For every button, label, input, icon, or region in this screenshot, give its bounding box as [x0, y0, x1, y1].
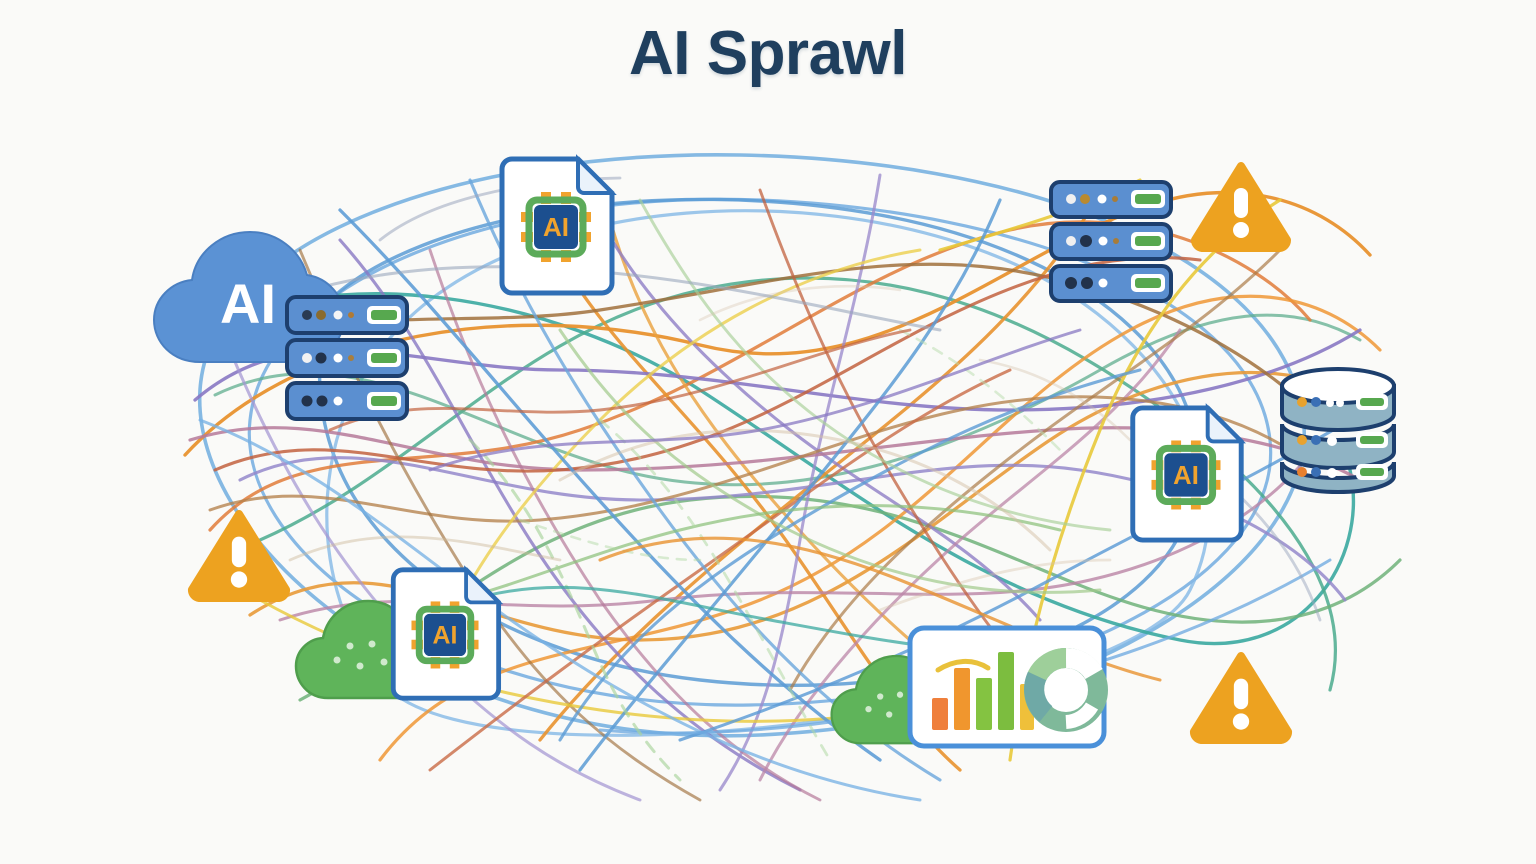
server-tier	[1051, 266, 1171, 301]
document-fold	[578, 159, 612, 193]
warning-triangle-left[interactable]	[186, 508, 292, 602]
server-tier	[1051, 182, 1171, 217]
dashboard-card[interactable]	[906, 624, 1108, 750]
server-tier	[1051, 224, 1171, 259]
svg-text:AI: AI	[1173, 462, 1199, 490]
ai-document-top[interactable]: AI	[494, 155, 618, 297]
illustration-canvas: AI Sprawl	[0, 0, 1536, 864]
ai-document-right[interactable]: AI	[1124, 404, 1248, 544]
warning-triangle-topright[interactable]	[1190, 160, 1292, 252]
cloud-ai-label: AI	[220, 272, 276, 335]
db-tier	[1282, 369, 1394, 430]
server-tier	[287, 297, 407, 333]
svg-text:AI: AI	[433, 622, 458, 650]
server-rack-topright[interactable]	[1047, 178, 1175, 308]
ai-document-bottom[interactable]: AI	[385, 566, 505, 702]
document-fold	[1208, 408, 1242, 442]
document-fold	[466, 570, 499, 603]
server-tier	[287, 340, 407, 376]
server-tier	[287, 383, 407, 419]
svg-text:AI: AI	[543, 212, 569, 242]
chip-icon: AI	[411, 601, 478, 668]
chip-icon: AI	[521, 192, 591, 262]
warning-triangle-bottomright[interactable]	[1188, 650, 1294, 744]
chip-icon: AI	[1151, 440, 1220, 509]
page-title: AI Sprawl	[0, 18, 1536, 89]
server-rack-left[interactable]	[283, 293, 411, 425]
database-cylinder-right[interactable]	[1274, 362, 1402, 496]
